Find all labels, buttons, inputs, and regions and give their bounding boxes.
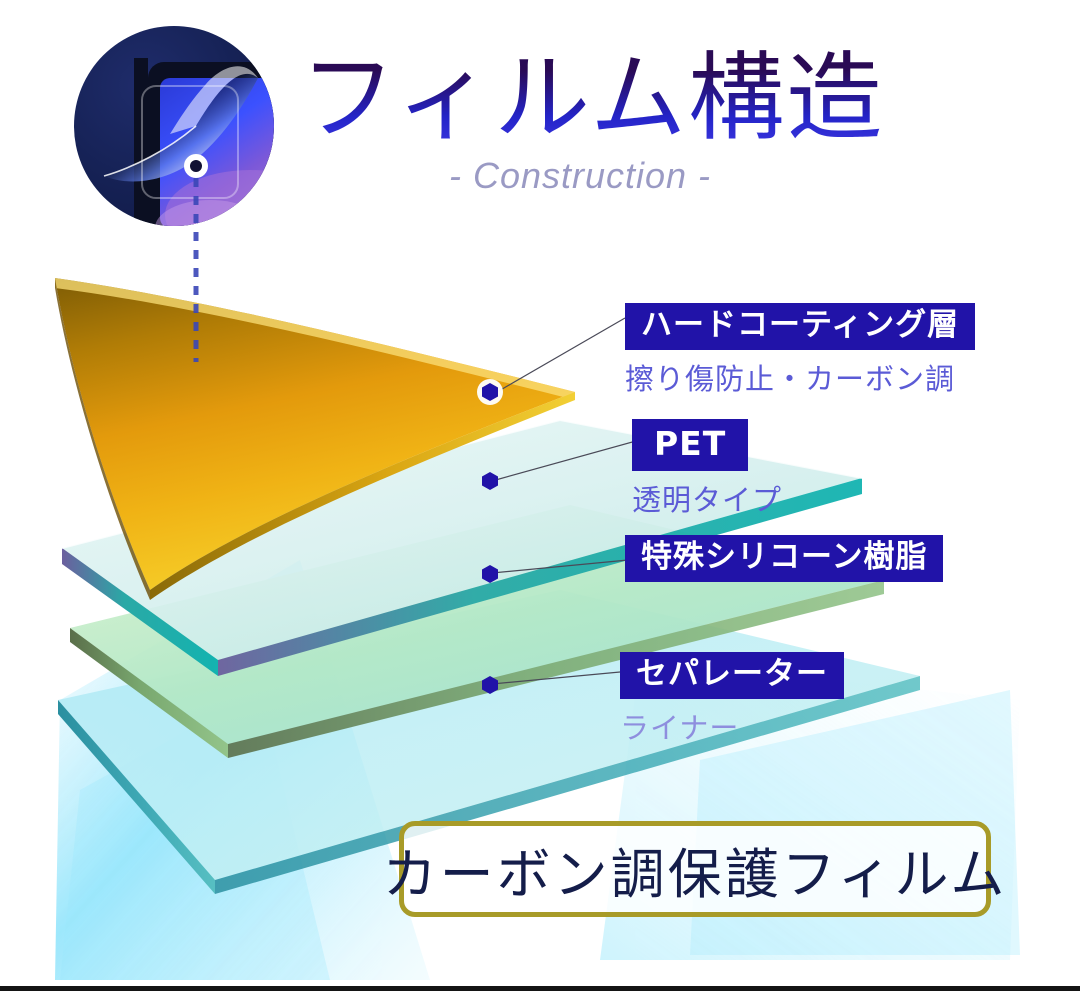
callout-label-pet: PET [632,419,748,471]
callout-sub-hard-coating: 擦り傷防止・カーボン調 [625,356,975,398]
callout-label-silicone: 特殊シリコーン樹脂 [625,535,943,582]
callout-label-hard-coating: ハードコーティング層 [625,303,975,350]
callout-sub-pet: 透明タイプ [632,477,782,519]
header-title-block: フィルム構造 - Construction - [300,48,900,197]
bottom-divider [0,986,1080,991]
page-subtitle: - Construction - [300,155,860,197]
callout-separator: セパレーター ライナー [620,652,844,747]
callout-sub-separator: ライナー [620,705,844,747]
callout-pet: PET 透明タイプ [632,419,782,519]
callout-hard-coating: ハードコーティング層 擦り傷防止・カーボン調 [625,303,975,398]
screen-protector-film-icon [74,26,335,260]
product-name-label: カーボン調保護フィルム [383,830,1008,909]
callout-silicone: 特殊シリコーン樹脂 [625,535,943,582]
callout-label-separator: セパレーター [620,652,844,699]
film-construction-infographic: フィルム構造 - Construction - ハードコーティング層 擦り傷防止… [0,0,1080,991]
page-title: フィルム構造 [300,48,900,149]
product-name-box: カーボン調保護フィルム [399,821,991,917]
